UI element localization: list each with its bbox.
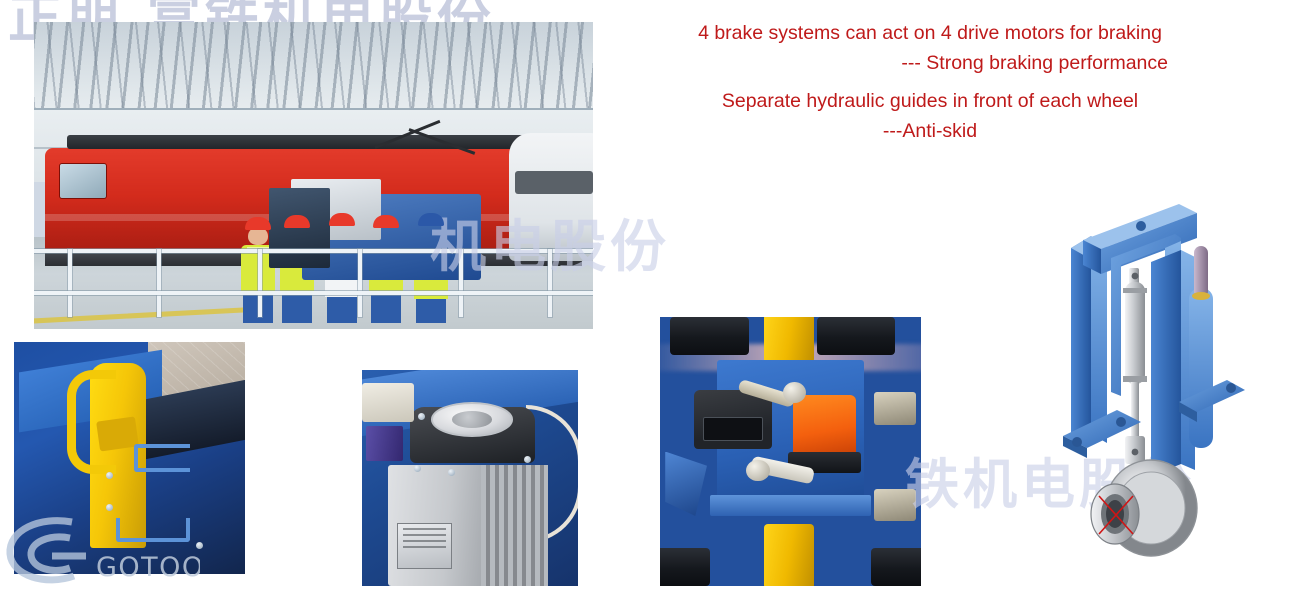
nameplate-line [403,534,445,536]
locomotive-window [59,163,107,200]
nameplate-line [403,546,445,548]
guide-roller [871,548,921,586]
bolt-head [414,465,421,472]
lever-knob[interactable] [783,382,806,404]
motor-housing [388,465,548,586]
cad-guide-rod [1194,246,1208,298]
guide-roller [660,548,710,586]
motor-cooling-fins [481,465,548,586]
mounting-hook [874,489,916,521]
rail-depot-photo [34,22,593,329]
nameplate-line [403,540,445,542]
blue-cylinder [366,426,403,461]
lever-knob[interactable] [746,460,769,482]
hard-hat-icon [284,215,310,228]
mounting-hook [874,392,916,424]
cad-hydraulic-cylinder [1123,268,1147,464]
yellow-guide-block [764,524,814,586]
hard-hat-icon [245,217,271,230]
slide-canvas: 正朋 富铁机电股份 [0,0,1315,592]
white-train [509,133,593,262]
console-shelf [710,495,872,517]
platform-railing [34,249,593,317]
headline-line-3: Separate hydraulic guides in front of ea… [640,86,1220,116]
hard-hat-icon [329,213,355,226]
orange-beacon-lamp [793,395,856,460]
nameplate-line [403,528,445,530]
headline-line-1: 4 brake systems can act on 4 drive motor… [640,18,1220,48]
motor-nameplate [397,523,451,569]
yellow-guide-block [764,317,814,363]
railing-post [68,249,72,317]
railing-post [358,249,362,317]
yellow-rail-clamp-photo [14,342,245,574]
clamp-bracket-lower [116,518,190,541]
motor-top-disc [431,402,513,437]
headline-line-2: --- Strong braking performance [640,48,1220,78]
guide-roller [817,317,895,355]
headline-line-4: ---Anti-skid [640,116,1220,146]
control-console-photo [660,317,921,586]
railing-post [157,249,161,317]
headline-block: 4 brake systems can act on 4 drive motor… [640,18,1220,146]
railing-post [548,249,552,317]
hydraulic-guide-cad-render [1055,196,1255,586]
guide-roller [670,317,748,355]
cad-guide-wheel [1091,460,1197,556]
clamp-bracket-upper [134,444,189,472]
drive-motor-photo [362,370,578,586]
cad-center-plate [1151,250,1195,476]
railing-post [459,249,463,317]
railing-post [258,249,262,317]
depot-roof [34,22,593,114]
terminal-box [362,383,414,422]
pantograph [375,126,485,152]
